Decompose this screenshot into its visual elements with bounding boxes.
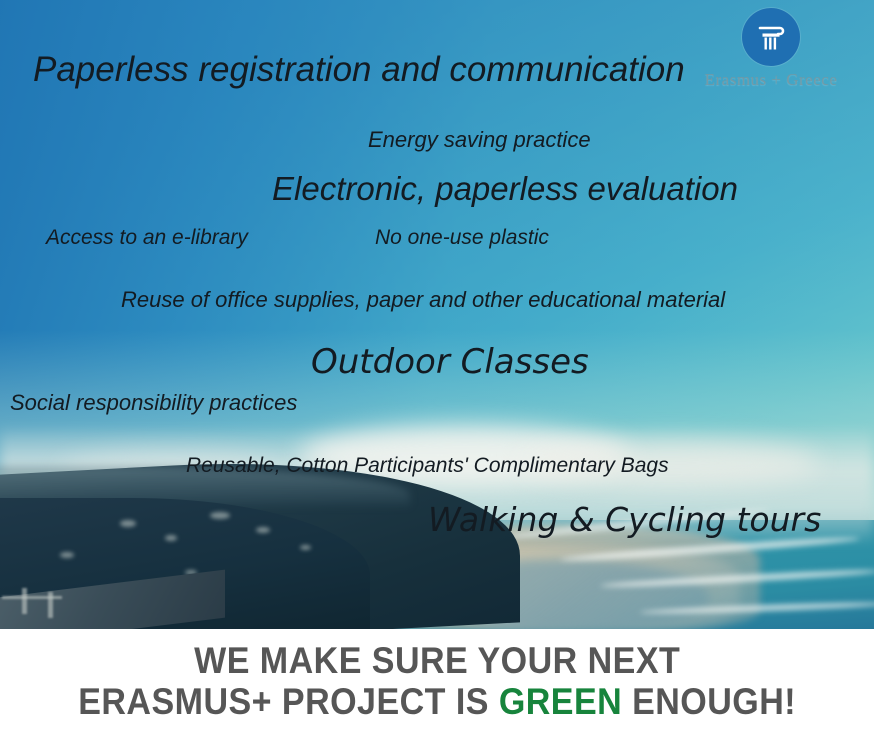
erasmus-greece-logo: Erasmus + Greece xyxy=(676,8,866,104)
text-social-responsibility: Social responsibility practices xyxy=(10,390,297,416)
building-speck xyxy=(300,545,311,550)
banner-line-2-before: ERASMUS+ PROJECT IS xyxy=(78,681,499,722)
building-speck xyxy=(210,512,230,519)
building-speck xyxy=(165,535,177,541)
building-speck xyxy=(60,552,74,558)
text-paperless-registration: Paperless registration and communication xyxy=(33,50,685,90)
building-speck xyxy=(256,527,270,533)
poster: Erasmus + Greece Paperless registration … xyxy=(0,0,874,733)
text-e-library: Access to an e-library xyxy=(46,226,248,250)
text-cotton-bags: Reusable, Cotton Participants' Complimen… xyxy=(186,454,669,478)
banner-line-2: ERASMUS+ PROJECT IS GREEN ENOUGH! xyxy=(78,682,796,721)
banner-line-1: WE MAKE SURE YOUR NEXT xyxy=(194,641,680,680)
railing-post xyxy=(22,588,27,614)
bottom-banner: WE MAKE SURE YOUR NEXT ERASMUS+ PROJECT … xyxy=(0,629,874,733)
railing-bar xyxy=(2,596,62,599)
text-energy-saving: Energy saving practice xyxy=(368,127,591,153)
building-speck xyxy=(120,520,136,527)
logo-text: Erasmus + Greece xyxy=(676,70,866,90)
banner-line-2-after: ENOUGH! xyxy=(622,681,796,722)
text-reuse-office-supplies: Reuse of office supplies, paper and othe… xyxy=(121,287,725,313)
text-no-one-use-plastic: No one-use plastic xyxy=(375,226,549,250)
greek-column-icon xyxy=(742,8,800,66)
text-walking-cycling-tours: Walking & Cycling tours xyxy=(428,500,821,539)
text-electronic-evaluation: Electronic, paperless evaluation xyxy=(272,170,738,208)
banner-green-highlight: GREEN xyxy=(499,681,622,722)
text-outdoor-classes: Outdoor Classes xyxy=(311,342,589,382)
